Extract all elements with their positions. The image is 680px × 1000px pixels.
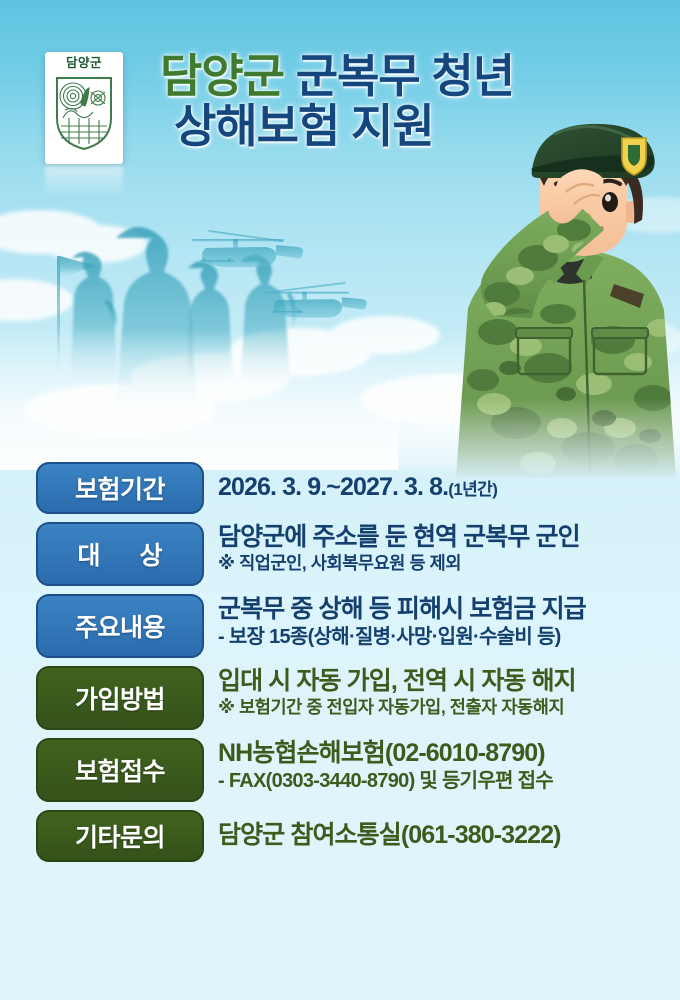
info-row-main-content: 주요내용 군복무 중 상해 등 피해시 보험금 지급 - 보장 15종(상해·질…: [0, 594, 680, 658]
badge-label: 보험기간: [75, 470, 165, 506]
title-county-name: 담양군: [160, 50, 284, 102]
info-row-other-inquiries: 기타문의 담양군 참여소통실(061-380-3222): [0, 810, 680, 862]
saluting-soldier-illustration: [398, 118, 680, 478]
badge-label: 기타문의: [75, 818, 165, 854]
emblem-label: 담양군: [66, 57, 102, 71]
badge-insurance-period[interactable]: 보험기간: [36, 462, 204, 514]
poster-root: 담양군 담양군 군복무 청년 상해보험 지원: [0, 0, 680, 1000]
row-line-1-suffix: (1년간): [448, 480, 497, 499]
title-line-1-rest: 군복무 청년: [296, 50, 514, 102]
badge-label: 보험접수: [75, 752, 165, 788]
row-line-1: 담양군 참여소통실(061-380-3222): [218, 821, 664, 849]
row-line-1: 2026. 3. 9.~2027. 3. 8.(1년간): [218, 473, 664, 501]
row-text: 군복무 중 상해 등 피해시 보험금 지급 - 보장 15종(상해·질병·사망·…: [204, 594, 664, 650]
row-line-2: - FAX(0303-3440-8790) 및 등기우편 접수: [218, 769, 664, 794]
emblem-reflection: [45, 165, 123, 199]
badge-label: 가입방법: [75, 680, 165, 716]
badge-target[interactable]: 대 상: [36, 522, 204, 586]
row-line-1: NH농협손해보험(02-6010-8790): [218, 739, 664, 767]
info-row-claim-reception: 보험접수 NH농협손해보험(02-6010-8790) - FAX(0303-3…: [0, 738, 680, 802]
badge-other-inquiries[interactable]: 기타문의: [36, 810, 204, 862]
badge-label: 대 상: [62, 536, 179, 572]
row-text: 담양군 참여소통실(061-380-3222): [204, 810, 664, 849]
row-text: 2026. 3. 9.~2027. 3. 8.(1년간): [204, 462, 664, 501]
title-line-2: 상해보험 지원: [174, 102, 630, 152]
poster-title: 담양군 군복무 청년 상해보험 지원: [160, 52, 630, 151]
damyang-county-emblem: 담양군: [45, 52, 123, 164]
row-line-2: ※ 직업군인, 사회복무요원 등 제외: [218, 553, 664, 575]
badge-main-content[interactable]: 주요내용: [36, 594, 204, 658]
row-line-2: - 보장 15종(상해·질병·사망·입원·수술비 등): [218, 625, 664, 650]
info-row-enrollment-method: 가입방법 입대 시 자동 가입, 전역 시 자동 해지 ※ 보험기간 중 전입자…: [0, 666, 680, 730]
badge-enrollment-method[interactable]: 가입방법: [36, 666, 204, 730]
row-line-1: 담양군에 주소를 둔 현역 군복무 군인: [218, 523, 664, 551]
row-line-1-main: 2026. 3. 9.~2027. 3. 8.: [218, 473, 448, 501]
info-row-insurance-period: 보험기간 2026. 3. 9.~2027. 3. 8.(1년간): [0, 462, 680, 514]
badge-label: 주요내용: [75, 608, 165, 644]
row-line-1: 군복무 중 상해 등 피해시 보험금 지급: [218, 595, 664, 623]
row-text: NH농협손해보험(02-6010-8790) - FAX(0303-3440-8…: [204, 738, 664, 794]
info-row-target: 대 상 담양군에 주소를 둔 현역 군복무 군인 ※ 직업군인, 사회복무요원 …: [0, 522, 680, 586]
row-text: 담양군에 주소를 둔 현역 군복무 군인 ※ 직업군인, 사회복무요원 등 제외: [204, 522, 664, 575]
row-text: 입대 시 자동 가입, 전역 시 자동 해지 ※ 보험기간 중 전입자 자동가입…: [204, 666, 664, 719]
county-crest-icon: [53, 74, 115, 152]
row-line-2: ※ 보험기간 중 전입자 자동가입, 전출자 자동해지: [218, 697, 664, 719]
title-line-1: 담양군 군복무 청년: [160, 52, 630, 102]
info-rows: 보험기간 2026. 3. 9.~2027. 3. 8.(1년간) 대 상 담양…: [0, 462, 680, 870]
row-line-1: 입대 시 자동 가입, 전역 시 자동 해지: [218, 667, 664, 695]
badge-claim-reception[interactable]: 보험접수: [36, 738, 204, 802]
